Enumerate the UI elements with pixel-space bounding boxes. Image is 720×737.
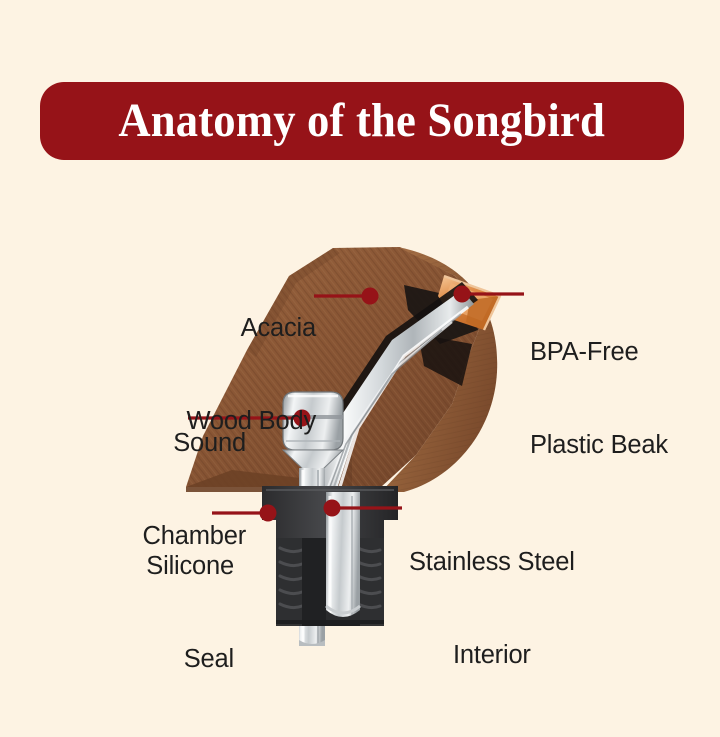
plastic-beak-part <box>438 276 500 330</box>
label-beak-line2: Plastic Beak <box>530 430 668 461</box>
label-silicone-line2: Seal <box>146 644 234 675</box>
page-title: Anatomy of the Songbird <box>119 97 606 145</box>
label-steel-line2: Interior <box>409 640 575 671</box>
stainless-steel-tube-part <box>306 282 478 492</box>
dot-silicone <box>260 505 277 522</box>
silicone-seal-part <box>262 486 398 626</box>
label-stainless-steel-interior: Stainless Steel Interior <box>409 485 575 733</box>
label-acacia-line1: Acacia <box>186 313 316 344</box>
dot-steel <box>324 500 341 517</box>
label-beak-line1: BPA-Free <box>530 337 668 368</box>
title-banner: Anatomy of the Songbird <box>40 82 684 160</box>
poster-canvas: Anatomy of the Songbird <box>0 0 720 720</box>
label-silicone-line1: Silicone <box>146 551 234 582</box>
label-steel-line1: Stainless Steel <box>409 547 575 578</box>
dot-acacia <box>362 288 379 305</box>
label-sound-line1: Sound <box>143 428 246 459</box>
dot-beak <box>454 286 471 303</box>
label-silicone-seal: Silicone Seal <box>146 489 234 737</box>
